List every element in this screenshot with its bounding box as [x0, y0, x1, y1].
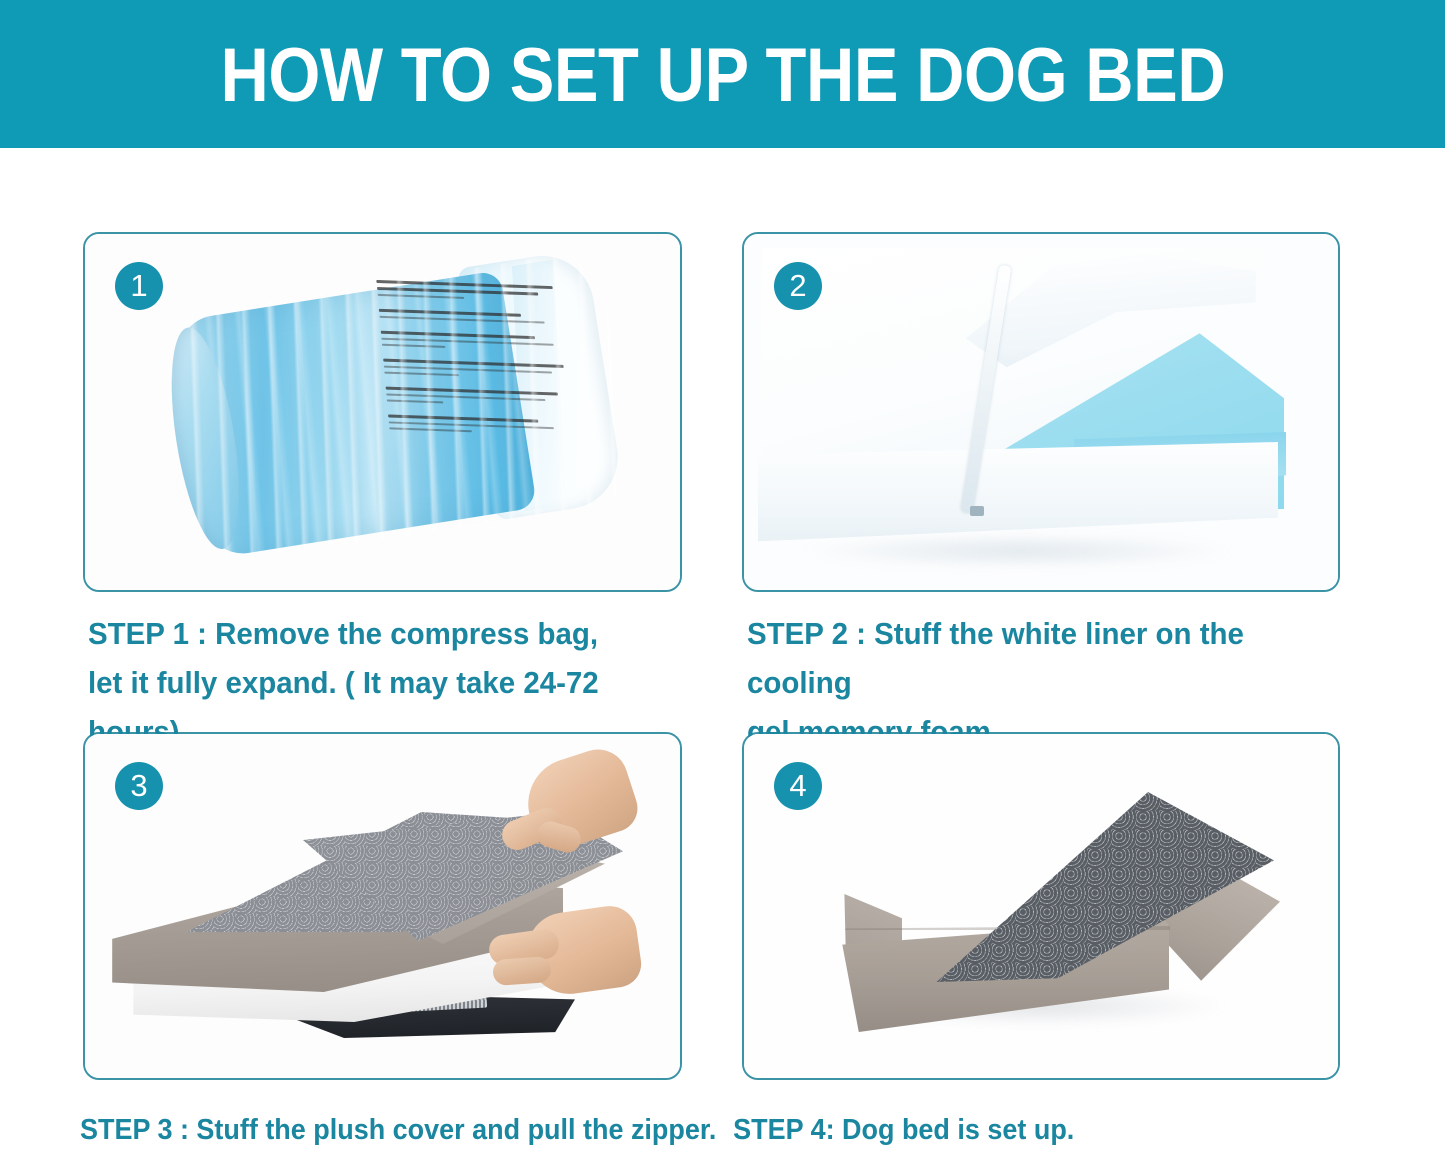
hand-lower [487, 902, 637, 1012]
step-card-1: 1 [83, 232, 682, 592]
step-badge-4: 4 [774, 762, 822, 810]
page-title: HOW TO SET UP THE DOG BED [220, 38, 1225, 114]
step-3-photo [85, 734, 680, 1078]
steps-grid: 1 2 [0, 148, 1445, 1171]
step-card-3: 3 [83, 732, 682, 1080]
step-1-photo [85, 234, 680, 590]
step-badge-2: 2 [774, 262, 822, 310]
step-4-photo [744, 734, 1338, 1078]
zipper-pull-icon [970, 506, 984, 516]
step-badge-3: 3 [115, 762, 163, 810]
step-card-2: 2 [742, 232, 1340, 592]
step-3-caption: STEP 3 : Stuff the plush cover and pull … [80, 1114, 716, 1146]
bottom-captions: STEP 3 : Stuff the plush cover and pull … [80, 1114, 1326, 1147]
step-2-photo [744, 234, 1338, 590]
step-card-4: 4 [742, 732, 1340, 1080]
step-4-caption: STEP 4: Dog bed is set up. [733, 1114, 1074, 1146]
step-badge-1: 1 [115, 262, 163, 310]
compression-bag-warning-label [376, 280, 582, 504]
header-banner: HOW TO SET UP THE DOG BED [0, 0, 1445, 148]
hand-upper [493, 756, 633, 874]
